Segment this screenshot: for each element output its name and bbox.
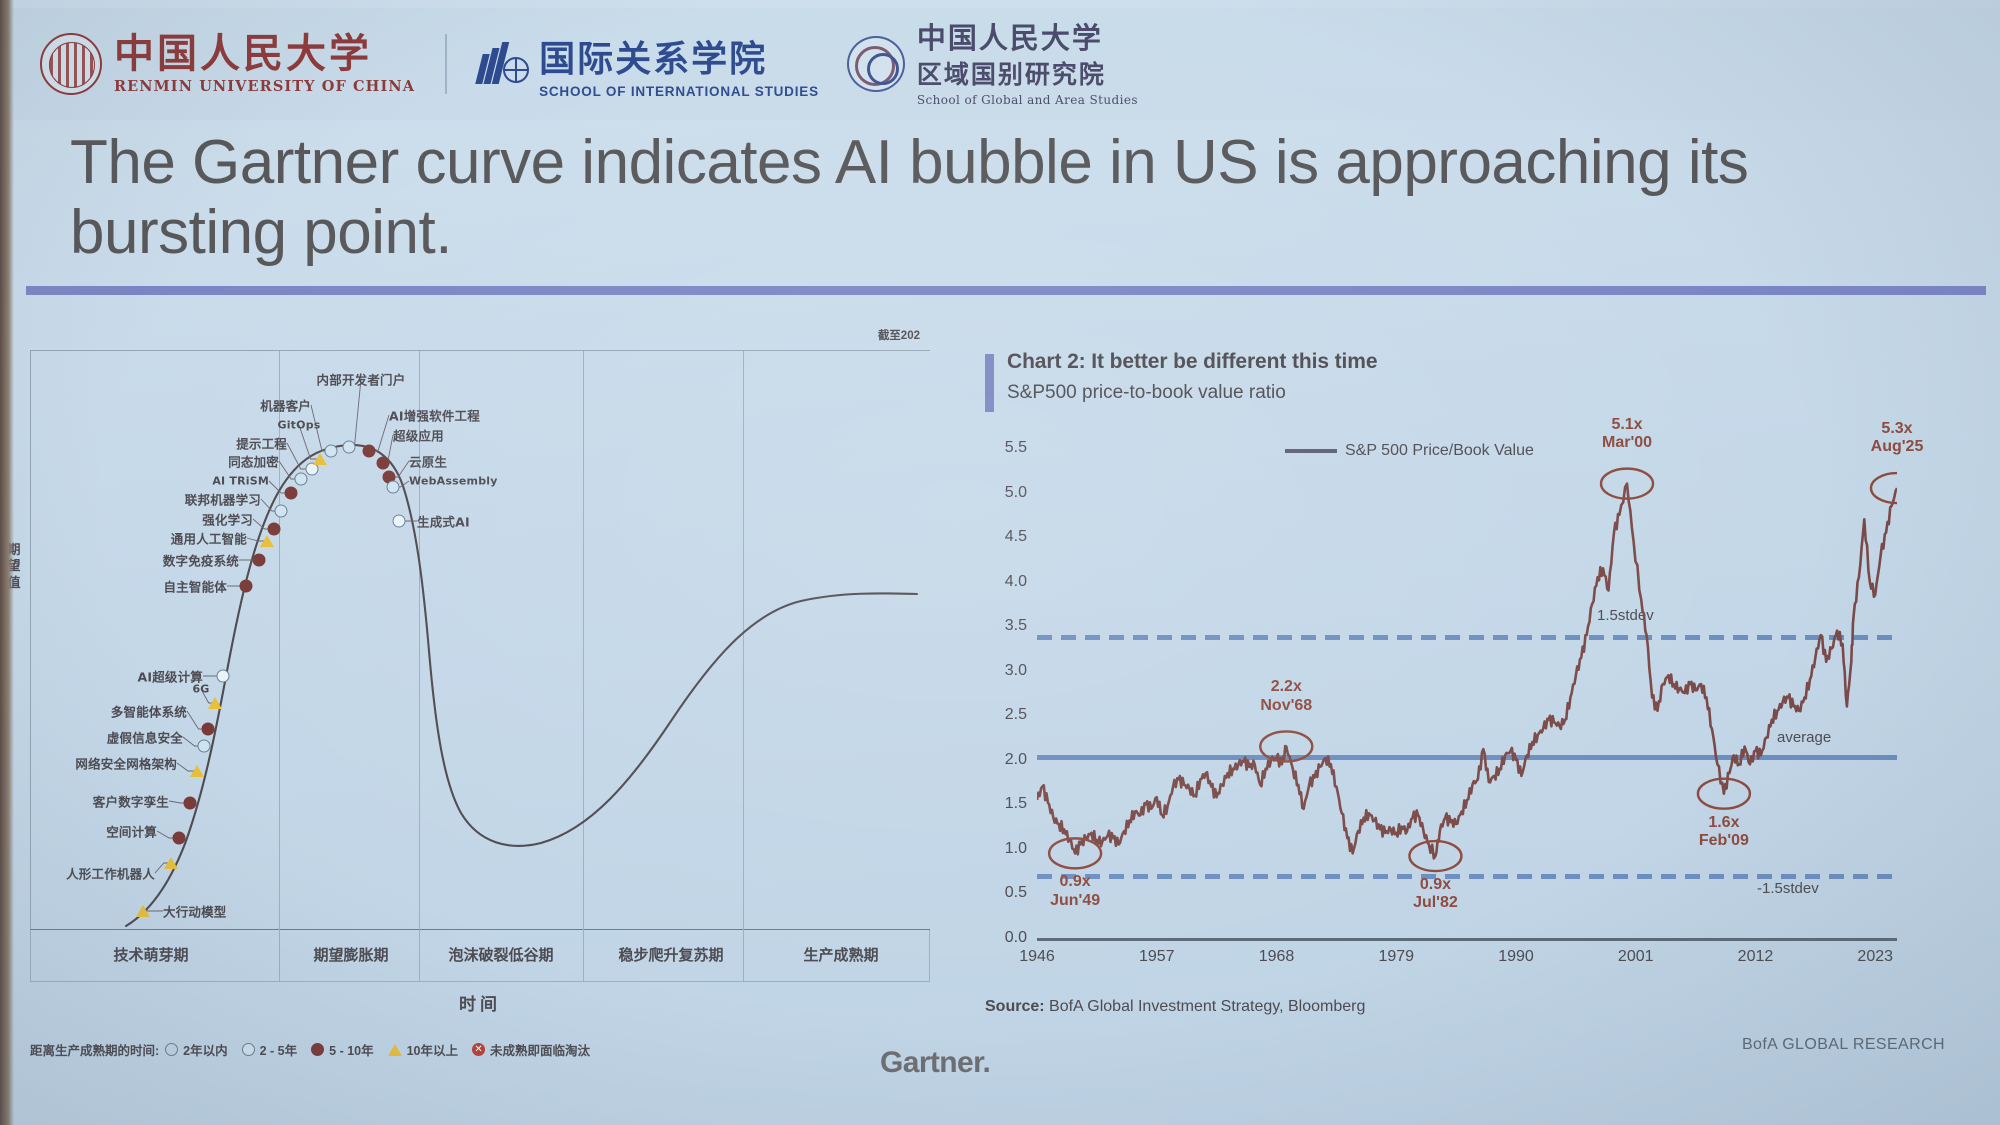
hype-node-label: 数字免疫系统 xyxy=(163,551,239,570)
yellow-triangle-icon xyxy=(388,1044,402,1056)
annotation-label-2: 0.9xJul'82 xyxy=(1413,876,1458,913)
gartner-legend: 距离生产成熟期的时间: 2年以内2 - 5年5 - 10年10年以上✕未成熟即面… xyxy=(30,1040,604,1059)
hype-node-label: 同态加密 xyxy=(228,452,279,471)
series-line-sp500-price-book xyxy=(1037,484,1897,859)
x-tick-1: 1957 xyxy=(1139,948,1175,966)
y-tick-9: 4.5 xyxy=(1005,528,1037,546)
annotation-label-1: 2.2xNov'68 xyxy=(1260,678,1312,715)
hype-node-label: AI超级计算 xyxy=(137,667,203,686)
sis-logo-cn: 国际关系学院 xyxy=(539,30,819,82)
bofa-source-text: BofA Global Investment Strategy, Bloombe… xyxy=(1049,998,1365,1015)
renmin-logo-cn: 中国人民大学 xyxy=(114,33,415,75)
gartner-legend-label: 2年以内 xyxy=(183,1040,227,1059)
hype-node-label: 提示工程 xyxy=(236,434,287,453)
y-tick-5: 2.5 xyxy=(1005,706,1037,724)
gartner-legend-item-4: ✕未成熟即面临淘汰 xyxy=(472,1040,590,1059)
x-tick-2: 1968 xyxy=(1259,948,1295,966)
slide-canvas: 中国人民大学 RENMIN UNIVERSITY OF CHINA 国际关系学院… xyxy=(0,0,2000,1125)
gsa-globe-icon xyxy=(847,36,905,92)
hype-node-marker xyxy=(387,481,400,494)
gartner-x-axis-label: 时间 xyxy=(30,990,930,1015)
y-tick-2: 1.0 xyxy=(1005,840,1037,858)
hype-node-marker xyxy=(377,457,390,470)
hype-node-marker xyxy=(184,797,197,810)
gartner-y-axis-label: 期望值 xyxy=(6,542,22,591)
hype-node-label: 超级应用 xyxy=(393,426,444,445)
x-tick-3: 1979 xyxy=(1378,948,1414,966)
institution-header-bar: 中国人民大学 RENMIN UNIVERSITY OF CHINA 国际关系学院… xyxy=(0,8,2000,120)
title-underline-rule xyxy=(26,286,1986,295)
y-tick-7: 3.5 xyxy=(1005,617,1037,635)
gartner-legend-item-1: 2 - 5年 xyxy=(242,1040,298,1059)
hype-node-label: 客户数字孪生 xyxy=(93,792,169,811)
x-tick-6: 2012 xyxy=(1738,948,1774,966)
logo-school-international-studies: 国际关系学院 SCHOOL OF INTERNATIONAL STUDIES xyxy=(477,30,819,99)
hype-node-marker xyxy=(295,473,308,486)
logo-school-global-area-studies: 中国人民大学 区域国别研究院 School of Global and Area… xyxy=(847,21,1138,107)
x-tick-0: 1946 xyxy=(1019,948,1055,966)
phase-label-3: 稳步爬升复苏期 xyxy=(618,944,723,965)
y-tick-1: 0.5 xyxy=(1005,884,1037,902)
hype-node-marker xyxy=(240,580,253,593)
node-leader-lines xyxy=(31,351,931,931)
logo-divider xyxy=(445,34,447,94)
hype-node-label: 联邦机器学习 xyxy=(185,490,261,509)
annotation-date: Nov'68 xyxy=(1260,697,1312,715)
gartner-phase-label-row: 技术萌芽期期望膨胀期泡沫破裂低谷期稳步爬升复苏期生产成熟期 xyxy=(30,930,930,982)
phase-label-0: 技术萌芽期 xyxy=(113,944,188,965)
hype-node-marker xyxy=(275,505,288,518)
hype-node-marker xyxy=(198,740,211,753)
annotation-date: Aug'25 xyxy=(1871,438,1924,456)
phase-row-divider xyxy=(743,930,744,982)
hype-node-label: 网络安全网格架构 xyxy=(75,754,177,773)
hype-node-marker xyxy=(190,765,204,777)
bofa-x-axis-line xyxy=(1037,938,1897,941)
hype-node-marker xyxy=(260,535,274,547)
hype-node-label: 云原生 xyxy=(409,452,447,471)
hype-node-label: 虚假信息安全 xyxy=(107,728,183,747)
bofa-chart-title: Chart 2: It better be different this tim… xyxy=(1007,350,1377,374)
renmin-logo-en: RENMIN UNIVERSITY OF CHINA xyxy=(114,78,415,95)
bofa-source-prefix: Source: xyxy=(985,998,1045,1015)
annotation-value: 0.9x xyxy=(1050,873,1100,891)
hype-node-marker xyxy=(173,832,186,845)
hype-node-label: AI TRiSM xyxy=(212,475,269,488)
sis-logo-en: SCHOOL OF INTERNATIONAL STUDIES xyxy=(539,84,819,99)
hype-node-marker xyxy=(285,487,298,500)
phase-row-divider xyxy=(279,930,280,982)
gartner-legend-item-3: 10年以上 xyxy=(388,1040,458,1059)
hype-node-marker xyxy=(268,523,281,536)
hype-node-label: 内部开发者门户 xyxy=(317,370,406,389)
phase-label-2: 泡沫破裂低谷期 xyxy=(448,944,553,965)
annotation-date: Jun'49 xyxy=(1050,892,1100,910)
logo-renmin-university: 中国人民大学 RENMIN UNIVERSITY OF CHINA xyxy=(40,33,415,95)
gartner-legend-label: 5 - 10年 xyxy=(329,1040,373,1059)
hype-node-label: 大行动模型 xyxy=(163,902,227,921)
hype-node-label: AI增强软件工程 xyxy=(389,406,480,425)
hype-node-label: 机器客户 xyxy=(260,396,311,415)
y-tick-6: 3.0 xyxy=(1005,662,1037,680)
annotation-label-3: 5.1xMar'00 xyxy=(1602,416,1652,453)
obsolete-x-icon: ✕ xyxy=(472,1043,485,1056)
bofa-price-to-book-line xyxy=(1037,448,1897,938)
bofa-accent-bar xyxy=(985,354,994,412)
sis-globe-icon xyxy=(477,42,529,86)
y-tick-4: 2.0 xyxy=(1005,751,1037,769)
hype-node-label: 空间计算 xyxy=(106,822,157,841)
bofa-chart-figure: Chart 2: It better be different this tim… xyxy=(985,350,1945,1030)
annotation-date: Mar'00 xyxy=(1602,434,1652,452)
hype-node-label: 生成式AI xyxy=(417,512,470,531)
y-tick-11: 5.5 xyxy=(1005,439,1037,457)
gsa-logo-cn: 中国人民大学 xyxy=(917,21,1138,55)
hype-node-marker xyxy=(343,441,356,454)
x-tick-5: 2001 xyxy=(1618,948,1654,966)
annotation-date: Jul'82 xyxy=(1413,894,1458,912)
phase-label-1: 期望膨胀期 xyxy=(313,944,388,965)
hype-node-marker xyxy=(136,905,150,917)
hype-node-label: 强化学习 xyxy=(202,510,253,529)
annotation-label-5: 5.3xAug'25 xyxy=(1871,420,1924,457)
gsa-logo-en: School of Global and Area Studies xyxy=(917,93,1138,107)
hype-node-label: 人形工作机器人 xyxy=(66,864,155,883)
hype-node-label: 通用人工智能 xyxy=(171,529,247,548)
annotation-value: 5.3x xyxy=(1871,420,1924,438)
hype-node-label: 自主智能体 xyxy=(163,577,227,596)
gartner-legend-label: 2 - 5年 xyxy=(260,1040,298,1059)
hype-node-marker xyxy=(363,445,376,458)
phase-row-divider xyxy=(419,930,420,982)
annotation-value: 2.2x xyxy=(1260,678,1312,696)
gartner-hype-cycle-figure: 期望值 大行动模型人形工作机器人空间计算客户数字孪生网络安全网格架构虚假信息安全… xyxy=(22,330,962,1070)
y-tick-8: 4.0 xyxy=(1005,573,1037,591)
gartner-legend-title: 距离生产成熟期的时间: xyxy=(30,1040,159,1059)
hollow-circle-icon xyxy=(165,1043,178,1056)
gartner-plot-area: 大行动模型人形工作机器人空间计算客户数字孪生网络安全网格架构虚假信息安全多智能体… xyxy=(30,350,930,930)
x-tick-7: 2023 xyxy=(1857,948,1893,966)
hype-node-marker xyxy=(164,857,178,869)
gartner-wordmark: Gartner. xyxy=(880,1046,990,1080)
phase-row-divider xyxy=(583,930,584,982)
hype-node-marker xyxy=(202,723,215,736)
gartner-cutoff-note: 截至202 xyxy=(878,327,920,343)
gartner-legend-label: 未成熟即面临淘汰 xyxy=(490,1040,590,1059)
y-tick-3: 1.5 xyxy=(1005,795,1037,813)
y-tick-10: 5.0 xyxy=(1005,484,1037,502)
hype-node-label: GitOps xyxy=(277,419,320,432)
phase-label-4: 生产成熟期 xyxy=(803,944,878,965)
gartner-legend-item-0: 2年以内 xyxy=(165,1040,227,1059)
hype-node-marker xyxy=(217,670,230,683)
annotation-value: 0.9x xyxy=(1413,876,1458,894)
hype-node-marker xyxy=(253,554,266,567)
hype-node-marker xyxy=(208,697,222,709)
y-tick-0: 0.0 xyxy=(1005,929,1037,947)
annotation-label-0: 0.9xJun'49 xyxy=(1050,873,1100,910)
bofa-research-credit: BofA GLOBAL RESEARCH xyxy=(1742,1036,1945,1054)
x-tick-4: 1990 xyxy=(1498,948,1534,966)
slide-title: The Gartner curve indicates AI bubble in… xyxy=(70,128,1770,268)
bofa-plot-area: 0.00.51.01.52.02.53.03.54.04.55.05.5 194… xyxy=(1037,448,1897,938)
hype-node-label: 多智能体系统 xyxy=(111,702,187,721)
light-circle-icon xyxy=(242,1043,255,1056)
renmin-seal-icon xyxy=(40,33,102,95)
annotation-value: 1.6x xyxy=(1699,814,1749,832)
bofa-chart-subtitle: S&P500 price-to-book value ratio xyxy=(1007,382,1286,404)
gsa-logo-cn2: 区域国别研究院 xyxy=(917,55,1138,91)
gartner-legend-item-2: 5 - 10年 xyxy=(311,1040,373,1059)
gartner-legend-label: 10年以上 xyxy=(407,1040,458,1059)
annotation-date: Feb'09 xyxy=(1699,832,1749,850)
hype-node-marker xyxy=(325,445,338,458)
hype-node-marker xyxy=(393,515,406,528)
annotation-label-4: 1.6xFeb'09 xyxy=(1699,814,1749,851)
annotation-value: 5.1x xyxy=(1602,416,1652,434)
hype-node-label: WebAssembly xyxy=(409,475,498,488)
dark-circle-icon xyxy=(311,1043,324,1056)
bofa-source-note: Source: BofA Global Investment Strategy,… xyxy=(985,998,1365,1016)
